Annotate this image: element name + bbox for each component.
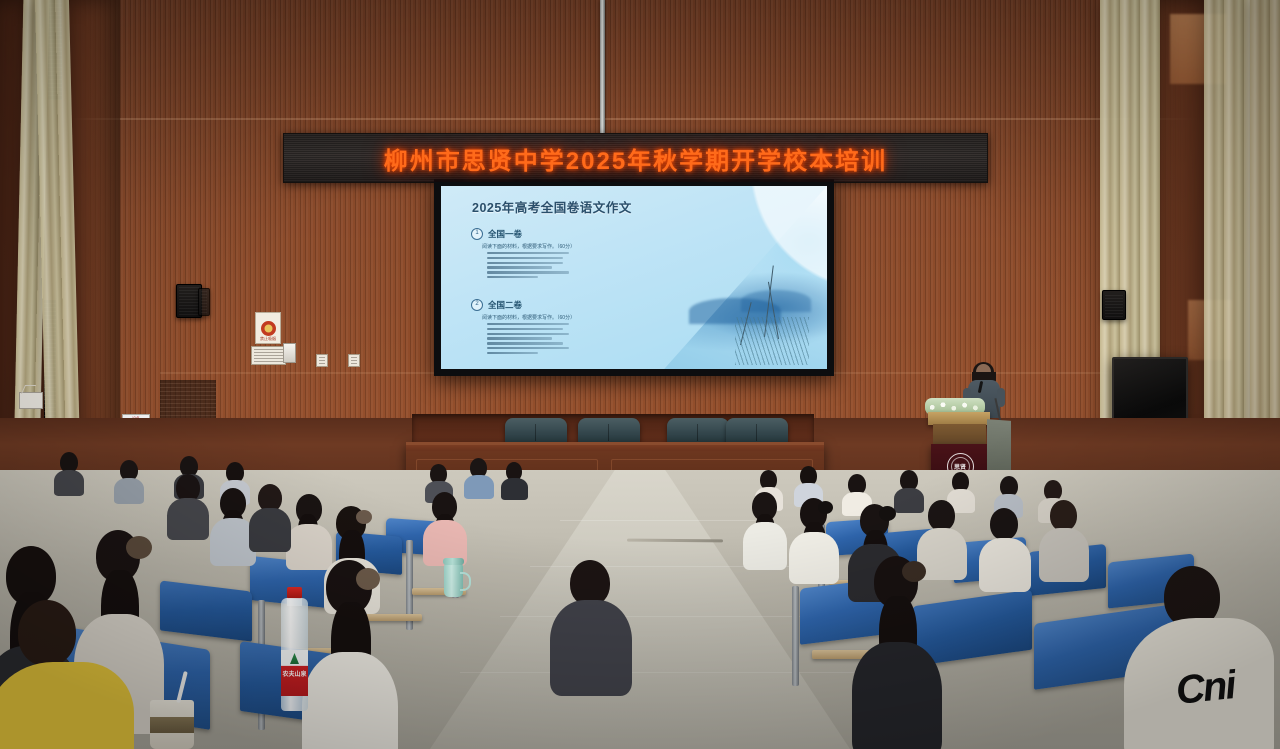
no-smoking-sign: 禁止吸烟 xyxy=(255,312,281,344)
section-header: 1 全国一卷 xyxy=(471,228,575,240)
wall-device xyxy=(19,392,43,409)
thermos-mug[interactable] xyxy=(444,563,463,597)
seat-post xyxy=(792,586,799,686)
wall-plaque xyxy=(316,354,328,367)
auditorium-scene: 柳州市思贤中学2025年秋学期开学校本培训 2025年高考全国卷语文作文 1 全… xyxy=(0,0,1280,749)
presidium-chair xyxy=(726,418,788,444)
bottle-brand: 农夫山泉 xyxy=(281,669,308,678)
section-body xyxy=(487,252,575,278)
led-banner: 柳州市思贤中学2025年秋学期开学校本培训 xyxy=(283,133,988,183)
cup-label xyxy=(150,717,194,733)
presidium-chair xyxy=(667,418,729,444)
seat-tray[interactable] xyxy=(362,614,422,621)
artwork-mountain xyxy=(741,290,811,312)
presentation-slide: 2025年高考全国卷语文作文 1 全国一卷 阅读下面的材料，根据要求写作。（60… xyxy=(441,186,827,369)
tile-line xyxy=(460,672,860,673)
presidium-chair xyxy=(578,418,640,444)
bottle-label: 农夫山泉 xyxy=(281,650,308,696)
slide-section-2: 2 全国二卷 阅读下面的材料，根据要求写作。（60分） xyxy=(471,299,575,356)
wall-plaque xyxy=(251,346,286,365)
section-body xyxy=(487,323,575,354)
artwork-grass xyxy=(735,317,809,365)
warning-emblem-icon xyxy=(261,321,276,336)
slide-section-1: 1 全国一卷 阅读下面的材料，根据要求写作。（60分） xyxy=(471,228,575,281)
section-lead: 阅读下面的材料，根据要求写作。（60分） xyxy=(482,314,575,321)
wall-speaker xyxy=(198,288,210,316)
antenna-icon xyxy=(21,385,36,394)
wall-seam xyxy=(0,118,1280,120)
section-title: 全国一卷 xyxy=(488,228,522,240)
wall-switch-box[interactable] xyxy=(283,343,296,363)
water-bottle[interactable]: 农夫山泉 xyxy=(281,598,308,711)
drink-cup[interactable] xyxy=(150,700,194,749)
slide-title: 2025年高考全国卷语文作文 xyxy=(472,197,632,216)
led-banner-text: 柳州市思贤中学2025年秋学期开学校本培训 xyxy=(384,141,887,176)
section-lead: 阅读下面的材料，根据要求写作。（60分） xyxy=(482,243,575,250)
presidium-chair xyxy=(505,418,567,444)
mountain-logo-icon xyxy=(290,653,299,664)
section-number: 1 xyxy=(471,228,483,240)
wall-speaker xyxy=(1102,290,1126,320)
section-number: 2 xyxy=(471,299,483,311)
tile-line xyxy=(560,520,760,521)
presenter-arm xyxy=(997,388,1005,407)
shirt-text: Cni xyxy=(1174,663,1237,714)
projection-screen: 2025年高考全国卷语文作文 1 全国一卷 阅读下面的材料，根据要求写作。（60… xyxy=(434,179,834,376)
tile-line xyxy=(500,616,820,617)
thermos-lid xyxy=(443,558,464,565)
warning-sign-label: 禁止吸烟 xyxy=(256,336,280,342)
section-header: 2 全国二卷 xyxy=(471,299,575,311)
curtain-right xyxy=(1250,0,1280,470)
wall-plaque xyxy=(348,354,360,367)
section-title: 全国二卷 xyxy=(488,299,522,311)
